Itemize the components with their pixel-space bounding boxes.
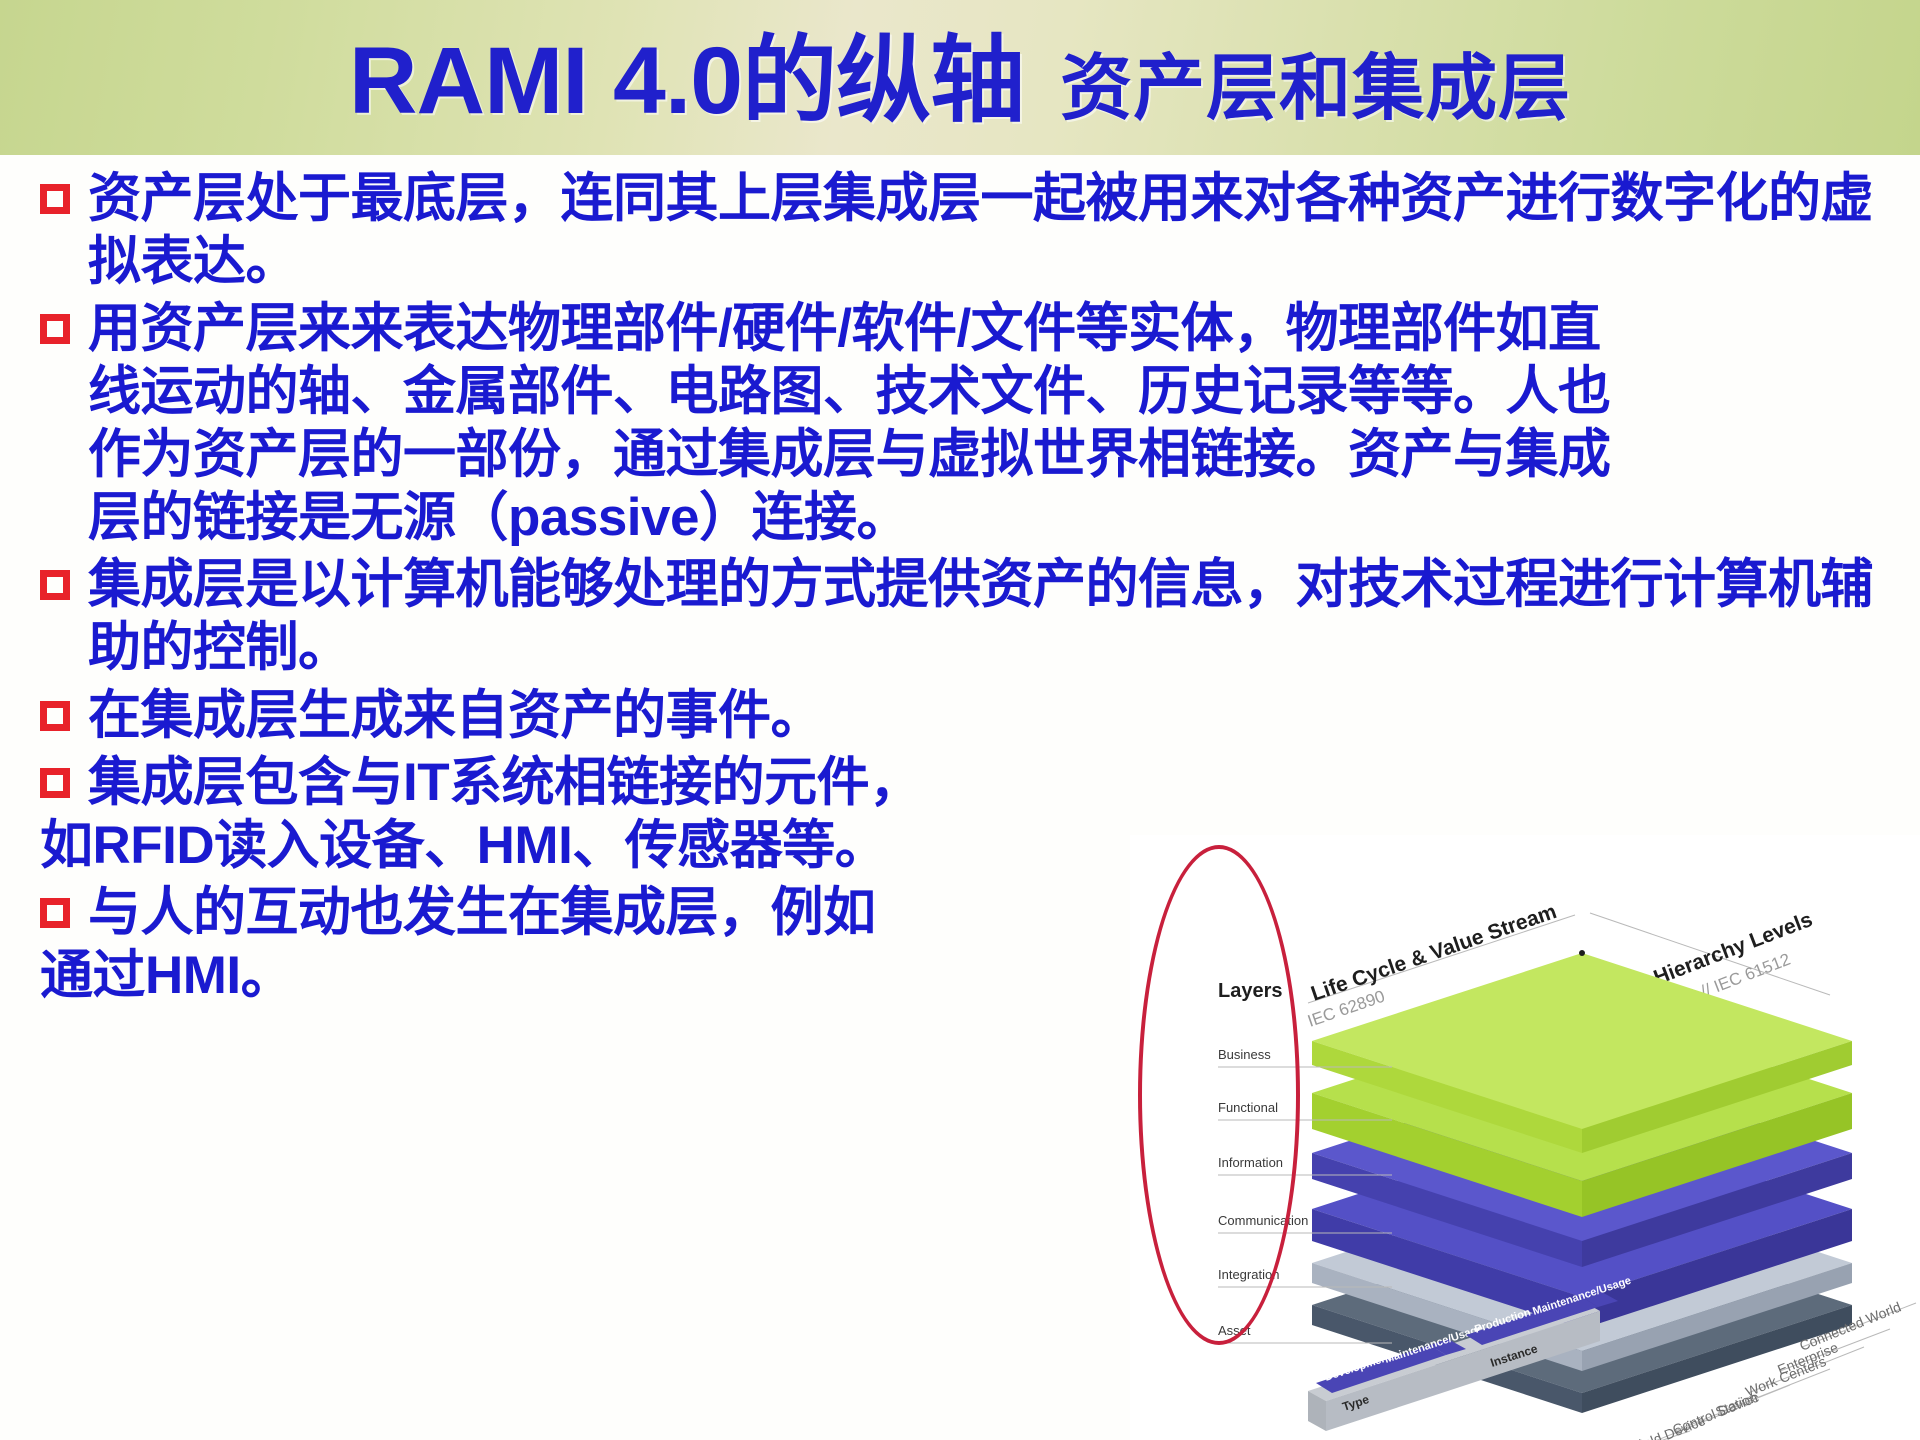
square-bullet-icon bbox=[40, 701, 70, 731]
square-bullet-icon bbox=[40, 768, 70, 798]
slide-header-band: RAMI 4.0的纵轴 资产层和集成层 bbox=[0, 0, 1920, 155]
page-title-sub: 资产层和集成层 bbox=[1060, 53, 1571, 125]
list-item: 用资产层来来表达物理部件/硬件/软件/文件等实体，物理部件如直线运动的轴、金属部… bbox=[40, 297, 1920, 549]
slide-root: RAMI 4.0的纵轴 资产层和集成层 资产层处于最底层，连同其上层集成层一起被… bbox=[0, 0, 1920, 1440]
rami-cube-figure: .lyr-lbl { font-family: "Liberation Sans… bbox=[1130, 835, 1920, 1440]
list-item-text: 集成层包含与IT系统相链接的元件， bbox=[88, 751, 922, 814]
list-item: 资产层处于最底层，连同其上层集成层一起被用来对各种资产进行数字化的虚拟表达。 bbox=[40, 167, 1920, 293]
page-title-main: RAMI 4.0的纵轴 bbox=[349, 34, 1024, 129]
page-title: RAMI 4.0的纵轴 资产层和集成层 bbox=[349, 34, 1571, 129]
list-item-text: 在集成层生成来自资产的事件。 bbox=[88, 684, 823, 747]
list-item-text-continuation: 通过HMI。 bbox=[40, 944, 293, 1007]
square-bullet-icon bbox=[40, 314, 70, 344]
list-item-text-continuation: 如RFID读入设备、HMI、传感器等。 bbox=[40, 814, 887, 877]
square-bullet-icon bbox=[40, 570, 70, 600]
list-item-text: 资产层处于最底层，连同其上层集成层一起被用来对各种资产进行数字化的虚拟表达。 bbox=[88, 167, 1878, 293]
list-item-text: 集成层是以计算机能够处理的方式提供资产的信息，对技术过程进行计算机辅助的控制。 bbox=[88, 553, 1878, 679]
square-bullet-icon bbox=[40, 898, 70, 928]
layers-highlight-ellipse bbox=[1138, 845, 1300, 1345]
list-item: 在集成层生成来自资产的事件。 bbox=[40, 684, 1920, 747]
list-item-text: 与人的互动也发生在集成层，例如 bbox=[88, 881, 876, 944]
list-item-text: 用资产层来来表达物理部件/硬件/软件/文件等实体，物理部件如直线运动的轴、金属部… bbox=[88, 297, 1618, 549]
list-item: 集成层是以计算机能够处理的方式提供资产的信息，对技术过程进行计算机辅助的控制。 bbox=[40, 553, 1920, 679]
square-bullet-icon bbox=[40, 184, 70, 214]
